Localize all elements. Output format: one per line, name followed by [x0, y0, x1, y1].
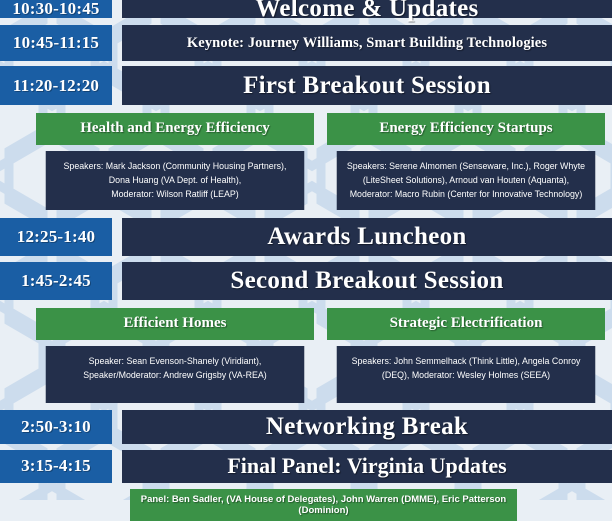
- speaker-line: Moderator: Macro Rubin (Center for Innov…: [342, 188, 589, 202]
- breakout-track-speakers: Speakers: Serene Almomen (Senseware, Inc…: [337, 151, 596, 210]
- breakout-track-speakers: Speakers: John Semmelhack (Think Little)…: [337, 346, 596, 403]
- column-gap: [112, 218, 122, 256]
- speaker-line: Speaker: Sean Evenson-Shanely (Viridiant…: [51, 355, 298, 369]
- agenda-time: 10:30-10:45: [0, 0, 112, 18]
- column-gap: [112, 66, 122, 105]
- speaker-line: Moderator: Wilson Ratliff (LEAP): [51, 188, 298, 202]
- agenda-time: 12:25-1:40: [0, 218, 112, 256]
- speaker-line: (DEQ), Moderator: Wesley Holmes (SEEA): [342, 369, 589, 383]
- agenda-time: 10:45-11:15: [0, 25, 112, 61]
- second-breakout-tracks: Efficient Homes Speaker: Sean Evenson-Sh…: [0, 308, 612, 403]
- agenda-time: 11:20-12:20: [0, 66, 112, 105]
- breakout-track-speakers: Speakers: Mark Jackson (Community Housin…: [46, 151, 305, 210]
- agenda-row: 11:20-12:20 First Breakout Session: [0, 66, 612, 105]
- breakout-track-title: Energy Efficiency Startups: [327, 113, 605, 145]
- agenda-row: 10:30-10:45 Welcome & Updates: [0, 0, 612, 18]
- row-spacer: [0, 300, 612, 308]
- column-gap: [112, 0, 122, 18]
- speaker-line: Dona Huang (VA Dept. of Health),: [51, 174, 298, 188]
- agenda-title: Final Panel: Virginia Updates: [122, 450, 612, 483]
- speaker-line: Speaker/Moderator: Andrew Grigsby (VA-RE…: [51, 369, 298, 383]
- row-spacer: [0, 210, 612, 218]
- agenda-title: Networking Break: [122, 410, 612, 444]
- breakout-track: Efficient Homes Speaker: Sean Evenson-Sh…: [36, 308, 314, 403]
- agenda-title: Awards Luncheon: [122, 218, 612, 256]
- agenda-row: 12:25-1:40 Awards Luncheon: [0, 218, 612, 256]
- agenda-title: Keynote: Journey Williams, Smart Buildin…: [122, 25, 612, 61]
- agenda-time: 3:15-4:15: [0, 450, 112, 483]
- column-gap: [112, 262, 122, 300]
- breakout-track-speakers: Speaker: Sean Evenson-Shanely (Viridiant…: [46, 346, 305, 403]
- agenda-row: 10:45-11:15 Keynote: Journey Williams, S…: [0, 25, 612, 61]
- agenda-time: 1:45-2:45: [0, 262, 112, 300]
- first-breakout-tracks: Health and Energy Efficiency Speakers: M…: [0, 113, 612, 210]
- breakout-track-title: Efficient Homes: [36, 308, 314, 340]
- column-gap: [112, 410, 122, 444]
- breakout-track-title: Health and Energy Efficiency: [36, 113, 314, 145]
- breakout-track: Strategic Electrification Speakers: John…: [327, 308, 605, 403]
- breakout-track: Energy Efficiency Startups Speakers: Ser…: [327, 113, 605, 210]
- agenda-row: 1:45-2:45 Second Breakout Session: [0, 262, 612, 300]
- agenda-title: First Breakout Session: [122, 66, 612, 105]
- final-panel-tracks: Panel: Ben Sadler, (VA House of Delegate…: [0, 489, 612, 521]
- row-spacer: [0, 403, 612, 410]
- speaker-line: Speakers: Mark Jackson (Community Housin…: [51, 160, 298, 174]
- speaker-line: Speakers: Serene Almomen (Senseware, Inc…: [342, 160, 589, 174]
- column-gap: [112, 25, 122, 61]
- breakout-track: Health and Energy Efficiency Speakers: M…: [36, 113, 314, 210]
- row-spacer: [0, 105, 612, 113]
- agenda-row: 2:50-3:10 Networking Break: [0, 410, 612, 444]
- conference-agenda: 10:30-10:45 Welcome & Updates 10:45-11:1…: [0, 0, 612, 500]
- breakout-track-title: Strategic Electrification: [327, 308, 605, 340]
- final-panel-speakers: Panel: Ben Sadler, (VA House of Delegate…: [130, 489, 517, 521]
- agenda-title: Welcome & Updates: [122, 0, 612, 18]
- final-panel-track: Panel: Ben Sadler, (VA House of Delegate…: [130, 489, 517, 521]
- agenda-row: 3:15-4:15 Final Panel: Virginia Updates: [0, 450, 612, 483]
- agenda-time: 2:50-3:10: [0, 410, 112, 444]
- agenda-title: Second Breakout Session: [122, 262, 612, 300]
- speaker-line: (LiteSheet Solutions), Arnoud van Houten…: [342, 174, 589, 188]
- speaker-line: Speakers: John Semmelhack (Think Little)…: [342, 355, 589, 369]
- column-gap: [112, 450, 122, 483]
